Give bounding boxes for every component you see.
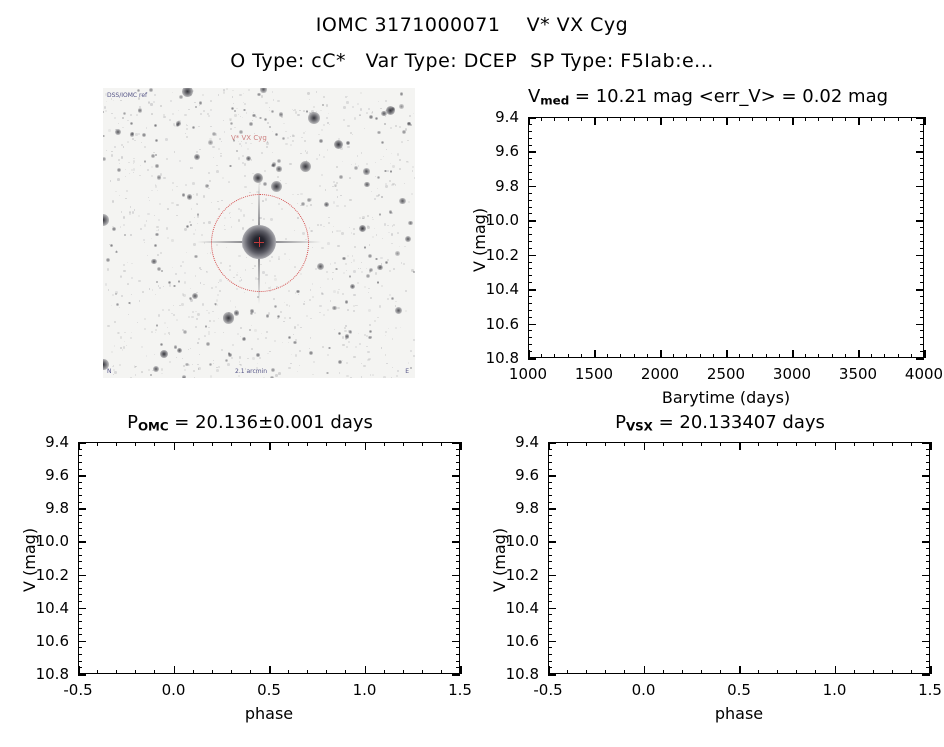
axis-tick	[920, 275, 924, 276]
axis-tick	[647, 354, 648, 358]
axis-tick	[97, 670, 98, 674]
vmed-value-text: = 10.21 mag <err_V> = 0.02 mag	[569, 86, 888, 107]
axis-tick	[924, 117, 926, 125]
axis-tick	[634, 117, 635, 121]
axis-tick	[920, 207, 924, 208]
axis-tick	[916, 220, 924, 222]
axis-tick	[832, 117, 833, 121]
axis-tick	[78, 621, 82, 622]
axis-tick	[620, 354, 621, 358]
phase-vsx-plot[interactable]	[548, 442, 930, 674]
axis-tick	[647, 117, 648, 121]
axis-tick	[920, 317, 924, 318]
axis-tick-label: 3500	[839, 365, 877, 383]
axis-tick	[554, 354, 555, 358]
axis-tick	[541, 354, 542, 358]
axis-tick	[871, 117, 872, 121]
axis-tick	[212, 670, 213, 674]
axis-tick	[920, 145, 924, 146]
axis-tick-label: 9.4	[495, 108, 519, 126]
axis-tick	[920, 172, 924, 173]
axis-tick	[920, 131, 924, 132]
axis-tick	[920, 193, 924, 194]
axis-tick	[916, 186, 924, 188]
axis-tick	[752, 117, 753, 121]
axis-tick	[78, 515, 82, 516]
axis-tick	[456, 621, 460, 622]
axis-tick	[920, 234, 924, 235]
axis-tick-label: 0.0	[162, 681, 186, 699]
p-vsx-symbol: P	[615, 412, 626, 433]
axis-tick	[78, 568, 82, 569]
axis-tick	[441, 442, 442, 446]
axis-tick	[345, 442, 346, 446]
axis-tick	[456, 647, 460, 648]
axis-tick	[752, 354, 753, 358]
axis-tick	[528, 151, 536, 153]
axis-tick	[78, 667, 82, 668]
axis-tick	[818, 354, 819, 358]
axis-tick	[365, 666, 367, 674]
axis-tick	[422, 670, 423, 674]
axis-tick	[456, 588, 460, 589]
axis-tick	[528, 172, 532, 173]
axis-tick	[269, 666, 271, 674]
axis-tick	[78, 581, 82, 582]
axis-tick	[116, 442, 117, 446]
axis-tick	[528, 186, 536, 188]
axis-tick	[920, 158, 924, 159]
target-crosshair-vertical	[259, 237, 260, 247]
axis-tick	[456, 634, 460, 635]
axis-tick	[97, 442, 98, 446]
timeseries-plot-frame	[528, 117, 924, 358]
axis-tick	[456, 594, 460, 595]
axis-tick	[920, 303, 924, 304]
axis-tick	[456, 495, 460, 496]
axis-tick	[460, 442, 462, 450]
axis-tick	[456, 581, 460, 582]
axis-tick	[920, 268, 924, 269]
axis-tick-label: 3000	[773, 365, 811, 383]
axis-tick	[365, 442, 367, 450]
sky-target-label: V* VX Cyg	[231, 134, 267, 142]
axis-tick	[528, 303, 532, 304]
axis-tick	[805, 354, 806, 358]
axis-tick	[916, 255, 924, 257]
axis-tick	[403, 670, 404, 674]
axis-tick-label: 9.6	[495, 142, 519, 160]
axis-tick	[528, 117, 536, 119]
axis-tick	[920, 344, 924, 345]
axis-tick	[528, 275, 532, 276]
axis-tick	[460, 666, 462, 674]
phase-omc-plot[interactable]	[78, 442, 460, 674]
axis-tick	[78, 475, 86, 477]
axis-tick	[345, 670, 346, 674]
axis-tick	[193, 670, 194, 674]
axis-tick	[456, 667, 460, 668]
axis-tick	[78, 608, 86, 610]
axis-tick	[456, 548, 460, 549]
axis-tick	[528, 145, 532, 146]
phase-omc-plot-frame	[78, 442, 460, 674]
axis-tick	[528, 227, 532, 228]
axis-tick	[920, 248, 924, 249]
axis-tick	[456, 568, 460, 569]
axis-tick	[920, 337, 924, 338]
axis-tick	[884, 117, 885, 121]
axis-tick	[456, 535, 460, 536]
axis-tick	[78, 449, 82, 450]
axis-tick	[78, 588, 82, 589]
axis-tick	[528, 234, 532, 235]
axis-tick-label: 4000	[905, 365, 943, 383]
axis-tick	[581, 354, 582, 358]
axis-tick	[920, 213, 924, 214]
axis-tick	[581, 117, 582, 121]
axis-tick-label: 1500	[575, 365, 613, 383]
axis-tick	[78, 482, 82, 483]
axis-tick	[78, 641, 86, 643]
axis-tick	[422, 442, 423, 446]
axis-tick	[307, 670, 308, 674]
phase-vsx-panel-title: PVSX = 20.133407 days	[500, 412, 940, 434]
axis-tick	[528, 289, 536, 291]
axis-tick	[858, 350, 860, 358]
axis-tick	[726, 117, 728, 125]
axis-tick	[713, 354, 714, 358]
axis-tick	[528, 330, 532, 331]
axis-tick	[135, 670, 136, 674]
axis-tick-label: 10.4	[486, 280, 519, 298]
axis-tick	[528, 344, 532, 345]
axis-tick	[456, 601, 460, 602]
axis-tick	[528, 255, 536, 257]
axis-tick	[326, 670, 327, 674]
axis-tick	[528, 220, 536, 222]
axis-tick	[568, 354, 569, 358]
axis-tick	[528, 158, 532, 159]
axis-tick	[528, 165, 532, 166]
axis-tick	[766, 354, 767, 358]
axis-tick-label: 10.0	[36, 532, 69, 550]
axis-tick	[920, 124, 924, 125]
axis-tick	[726, 350, 728, 358]
vmed-symbol: V	[528, 86, 540, 107]
axis-tick	[528, 241, 532, 242]
axis-tick	[78, 594, 82, 595]
axis-tick	[528, 268, 532, 269]
axis-tick	[78, 561, 82, 562]
axis-tick	[384, 442, 385, 446]
axis-tick	[660, 350, 662, 358]
axis-tick-label: 10.4	[36, 599, 69, 617]
axis-tick	[916, 358, 924, 360]
timeseries-plot[interactable]	[528, 117, 924, 358]
axis-tick	[78, 654, 82, 655]
axis-tick	[528, 200, 532, 201]
axis-tick	[456, 515, 460, 516]
axis-tick	[920, 351, 924, 352]
axis-tick	[456, 661, 460, 662]
axis-tick	[78, 555, 82, 556]
phase-omc-xaxis-label: phase	[245, 704, 293, 723]
axis-tick	[528, 351, 532, 352]
axis-tick	[78, 647, 82, 648]
axis-tick	[528, 324, 536, 326]
axis-tick	[779, 354, 780, 358]
axis-tick	[700, 117, 701, 121]
axis-tick	[607, 117, 608, 121]
axis-tick	[78, 488, 82, 489]
axis-tick	[456, 561, 460, 562]
axis-tick	[452, 641, 460, 643]
axis-tick	[541, 117, 542, 121]
axis-tick	[528, 296, 532, 297]
axis-tick	[231, 670, 232, 674]
axis-tick	[607, 354, 608, 358]
axis-tick	[528, 262, 532, 263]
axis-tick	[739, 354, 740, 358]
axis-tick	[528, 193, 532, 194]
axis-tick	[441, 670, 442, 674]
axis-tick-label: 10.2	[36, 566, 69, 584]
axis-tick	[452, 508, 460, 510]
axis-tick	[845, 354, 846, 358]
axis-tick	[212, 442, 213, 446]
axis-tick-label: 10.6	[486, 315, 519, 333]
sky-scale-label: 2.1 arcmin	[235, 368, 267, 375]
axis-tick	[920, 200, 924, 201]
sky-corner-label-bottom-left: N	[107, 368, 112, 375]
axis-tick	[154, 670, 155, 674]
axis-tick-label: 2500	[707, 365, 745, 383]
axis-tick	[920, 310, 924, 311]
axis-tick	[456, 654, 460, 655]
axis-tick	[456, 628, 460, 629]
axis-tick	[384, 670, 385, 674]
axis-tick	[686, 117, 687, 121]
axis-tick	[916, 117, 924, 119]
axis-tick	[916, 289, 924, 291]
axis-tick	[911, 117, 912, 121]
axis-tick	[452, 575, 460, 577]
axis-tick	[686, 354, 687, 358]
axis-tick	[911, 354, 912, 358]
axis-tick	[528, 337, 532, 338]
axis-tick	[78, 502, 82, 503]
axis-tick	[528, 213, 532, 214]
axis-tick	[920, 296, 924, 297]
sky-corner-label-top-left: DSS/IOMC ref	[107, 92, 147, 99]
axis-tick	[456, 614, 460, 615]
axis-tick	[231, 442, 232, 446]
axis-tick	[78, 634, 82, 635]
sky-corner-label-bottom-right: E	[405, 368, 409, 375]
axis-tick	[594, 117, 596, 125]
p-omc-subscript: OMC	[138, 420, 169, 434]
axis-tick	[568, 117, 569, 121]
axis-tick	[920, 138, 924, 139]
axis-tick	[456, 555, 460, 556]
axis-tick	[456, 502, 460, 503]
axis-tick-label: 2000	[641, 365, 679, 383]
axis-tick-label: 10.8	[36, 665, 69, 683]
axis-tick	[898, 117, 899, 121]
axis-tick-label: 0.5	[257, 681, 281, 699]
axis-tick	[594, 350, 596, 358]
axis-tick	[78, 661, 82, 662]
phase-omc-panel-title: POMC = 20.136±0.001 days	[30, 412, 470, 434]
axis-tick-label: 1.0	[353, 681, 377, 699]
axis-tick-label: 10.8	[486, 349, 519, 367]
axis-tick	[920, 330, 924, 331]
p-omc-symbol: P	[127, 412, 138, 433]
axis-tick	[456, 522, 460, 523]
axis-tick	[779, 117, 780, 121]
axis-tick	[135, 442, 136, 446]
vmed-subscript: med	[540, 94, 569, 108]
axis-tick	[920, 282, 924, 283]
axis-tick	[452, 541, 460, 543]
axis-tick	[805, 117, 806, 121]
axis-tick-label: 10.6	[36, 632, 69, 650]
axis-tick	[766, 117, 767, 121]
axis-tick-label: 1.5	[448, 681, 472, 699]
axis-tick	[78, 601, 82, 602]
axis-tick	[456, 469, 460, 470]
axis-tick	[269, 442, 271, 450]
target-aperture-circle	[211, 194, 309, 292]
axis-tick	[858, 117, 860, 125]
axis-tick	[660, 117, 662, 125]
axis-tick	[528, 124, 532, 125]
axis-tick	[193, 442, 194, 446]
axis-tick	[250, 670, 251, 674]
axis-tick	[78, 541, 86, 543]
axis-tick-label: 10.0	[486, 211, 519, 229]
axis-tick	[452, 475, 460, 477]
axis-tick	[673, 117, 674, 121]
axis-tick	[528, 310, 532, 311]
axis-tick	[307, 442, 308, 446]
axis-tick	[871, 354, 872, 358]
axis-tick	[739, 117, 740, 121]
axis-tick	[78, 674, 86, 676]
axis-tick	[792, 350, 794, 358]
axis-tick	[920, 165, 924, 166]
axis-tick	[713, 117, 714, 121]
axis-tick	[920, 241, 924, 242]
axis-tick	[700, 354, 701, 358]
axis-tick	[528, 207, 532, 208]
axis-tick	[78, 522, 82, 523]
page-title: IOMC 3171000071 V* VX Cyg	[0, 14, 944, 36]
axis-tick	[818, 117, 819, 121]
axis-tick-label: 10.2	[486, 246, 519, 264]
axis-tick	[634, 354, 635, 358]
axis-tick	[326, 442, 327, 446]
axis-tick	[884, 354, 885, 358]
timeseries-panel-title: Vmed = 10.21 mag <err_V> = 0.02 mag	[472, 86, 944, 108]
axis-tick	[832, 354, 833, 358]
axis-tick	[924, 350, 926, 358]
p-omc-value-text: = 20.136±0.001 days	[169, 412, 373, 433]
sky-finder-chart[interactable]: V* VX Cyg DSS/IOMC ref N 2.1 arcmin E	[103, 88, 415, 378]
axis-tick	[78, 442, 86, 444]
axis-tick	[78, 495, 82, 496]
axis-tick	[78, 548, 82, 549]
axis-tick	[452, 674, 460, 676]
axis-tick	[528, 248, 532, 249]
axis-tick	[456, 482, 460, 483]
axis-tick-label: 9.8	[45, 499, 69, 517]
axis-tick	[673, 354, 674, 358]
axis-tick-label: 9.4	[45, 433, 69, 451]
axis-tick	[78, 614, 82, 615]
axis-tick	[78, 535, 82, 536]
axis-tick	[792, 117, 794, 125]
axis-tick	[528, 138, 532, 139]
axis-tick	[78, 462, 82, 463]
axis-tick	[528, 282, 532, 283]
axis-tick	[916, 324, 924, 326]
axis-tick	[403, 442, 404, 446]
axis-tick	[845, 117, 846, 121]
axis-tick	[174, 442, 176, 450]
axis-tick	[528, 317, 532, 318]
object-classification-line: O Type: cC* Var Type: DCEP SP Type: F5Ia…	[0, 50, 944, 72]
axis-tick	[78, 528, 82, 529]
axis-tick	[250, 442, 251, 446]
axis-tick	[452, 442, 460, 444]
axis-tick	[916, 151, 924, 153]
axis-tick	[456, 488, 460, 489]
axis-tick	[78, 455, 82, 456]
axis-tick	[78, 508, 86, 510]
axis-tick	[154, 442, 155, 446]
axis-tick	[456, 462, 460, 463]
axis-tick	[920, 179, 924, 180]
axis-tick	[174, 666, 176, 674]
axis-tick	[920, 262, 924, 263]
axis-tick	[620, 117, 621, 121]
phase-omc-yaxis-label: V (mag)	[20, 528, 39, 592]
axis-tick-label: 9.6	[45, 466, 69, 484]
timeseries-yaxis-label: V (mag)	[470, 207, 489, 271]
axis-tick-label: 1000	[509, 365, 547, 383]
axis-tick	[456, 449, 460, 450]
axis-tick	[920, 227, 924, 228]
timeseries-xaxis-label: Barytime (days)	[662, 388, 790, 407]
axis-tick-label: -0.5	[63, 681, 92, 699]
axis-tick	[898, 354, 899, 358]
axis-tick	[116, 670, 117, 674]
axis-tick	[78, 575, 86, 577]
axis-tick	[528, 358, 536, 360]
axis-tick	[288, 670, 289, 674]
axis-tick	[528, 179, 532, 180]
p-vsx-subscript: VSX	[626, 420, 653, 434]
axis-tick	[456, 455, 460, 456]
axis-tick-label: 9.8	[495, 177, 519, 195]
axis-tick	[554, 117, 555, 121]
p-vsx-value-text: = 20.133407 days	[653, 412, 825, 433]
axis-tick	[528, 131, 532, 132]
axis-tick	[78, 469, 82, 470]
axis-tick	[78, 628, 82, 629]
